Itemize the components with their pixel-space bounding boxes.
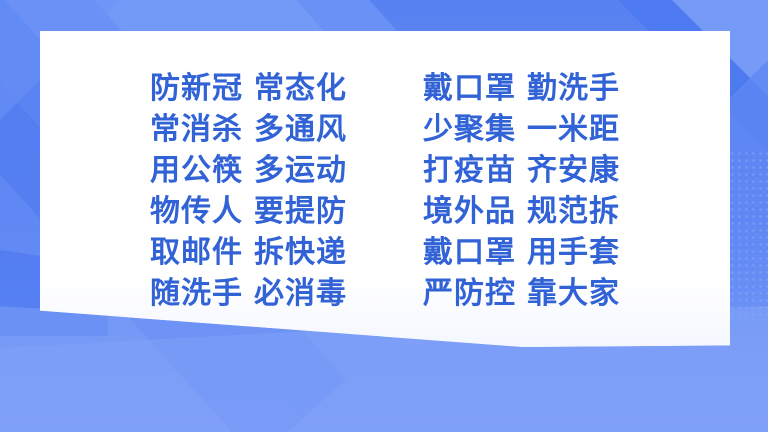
slogan-line: 取邮件拆快递 [150,233,347,272]
slogan-segment: 必消毒 [254,274,347,313]
slogan-segment: 一米距 [527,110,620,149]
slogan-segment: 防新冠 [150,69,243,108]
slogan-segment: 用手套 [527,233,620,272]
slogan-line: 境外品规范拆 [423,192,620,231]
slogan-column-left: 防新冠常态化 常消杀多通风 用公筷多运动 物传人要提防 取邮件拆快递 随洗手必消… [150,69,347,313]
slogan-line: 戴口罩用手套 [423,233,620,272]
slogan-segment: 物传人 [150,192,243,231]
slogan-segment: 常消杀 [150,110,243,149]
slogan-segment: 少聚集 [423,110,516,149]
slogan-segment: 打疫苗 [423,151,516,190]
slogan-line: 打疫苗齐安康 [423,151,620,190]
slogan-line: 少聚集一米距 [423,110,620,149]
slogan-segment: 要提防 [254,192,347,231]
slogan-segment: 取邮件 [150,233,243,272]
slogan-line: 常消杀多通风 [150,110,347,149]
slogan-block: 防新冠常态化 常消杀多通风 用公筷多运动 物传人要提防 取邮件拆快递 随洗手必消… [40,31,730,347]
slogan-segment: 多通风 [254,110,347,149]
slogan-segment: 靠大家 [527,274,620,313]
slogan-segment: 勤洗手 [527,69,620,108]
poster-canvas: 防新冠常态化 常消杀多通风 用公筷多运动 物传人要提防 取邮件拆快递 随洗手必消… [0,0,768,432]
slogan-line: 严防控靠大家 [423,274,620,313]
slogan-segment: 齐安康 [527,151,620,190]
slogan-line: 防新冠常态化 [150,69,347,108]
slogan-segment: 多运动 [254,151,347,190]
slogan-segment: 规范拆 [527,192,620,231]
slogan-segment: 拆快递 [254,233,347,272]
slogan-segment: 随洗手 [150,274,243,313]
slogan-segment: 戴口罩 [423,69,516,108]
slogan-segment: 用公筷 [150,151,243,190]
slogan-segment: 境外品 [423,192,516,231]
slogan-column-right: 戴口罩勤洗手 少聚集一米距 打疫苗齐安康 境外品规范拆 戴口罩用手套 严防控靠大… [423,69,620,313]
slogan-segment: 戴口罩 [423,233,516,272]
slogan-line: 戴口罩勤洗手 [423,69,620,108]
slogan-line: 物传人要提防 [150,192,347,231]
slogan-line: 随洗手必消毒 [150,274,347,313]
slogan-segment: 严防控 [423,274,516,313]
slogan-segment: 常态化 [254,69,347,108]
slogan-line: 用公筷多运动 [150,151,347,190]
